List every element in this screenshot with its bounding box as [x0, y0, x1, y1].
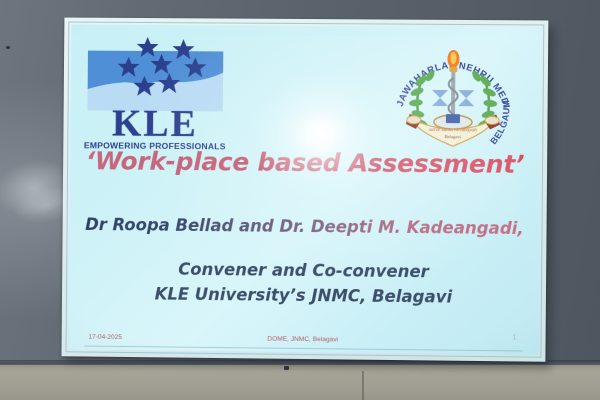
screen-bottom-mount	[284, 366, 289, 370]
footer-page-number: 1	[512, 334, 516, 341]
kle-stars-icon	[87, 35, 223, 114]
footer-center-label: DOME, JNMC, Belagavi	[69, 333, 539, 345]
kle-wordmark: KLE	[83, 104, 227, 143]
slide-affiliation: KLE University’s JNMC, Belagavi	[69, 284, 539, 308]
wall-speck	[6, 46, 10, 49]
jnmc-logo: JAWAHARLAL NEHRU MEDICAL COLLEGE BELGAUM	[391, 34, 515, 153]
slide-title: ‘Work-place based Assessment’	[70, 146, 540, 179]
projection-screen: KLE EMPOWERING PROFESSIONALS JAWAHARLAL …	[61, 18, 548, 362]
kle-logo: KLE EMPOWERING PROFESSIONALS	[83, 35, 227, 149]
slide-authors: Dr Roopa Bellad and Dr. Deepti M. Kadean…	[69, 214, 539, 239]
presentation-slide: KLE EMPOWERING PROFESSIONALS JAWAHARLAL …	[68, 25, 541, 355]
slide-role: Convener and Co-convener	[69, 259, 539, 283]
screenshot-root: KLE EMPOWERING PROFESSIONALS JAWAHARLAL …	[0, 0, 600, 400]
svg-text:Belagavi: Belagavi	[445, 134, 462, 139]
svg-text:sarve santu niramayah: sarve santu niramayah	[429, 127, 477, 133]
